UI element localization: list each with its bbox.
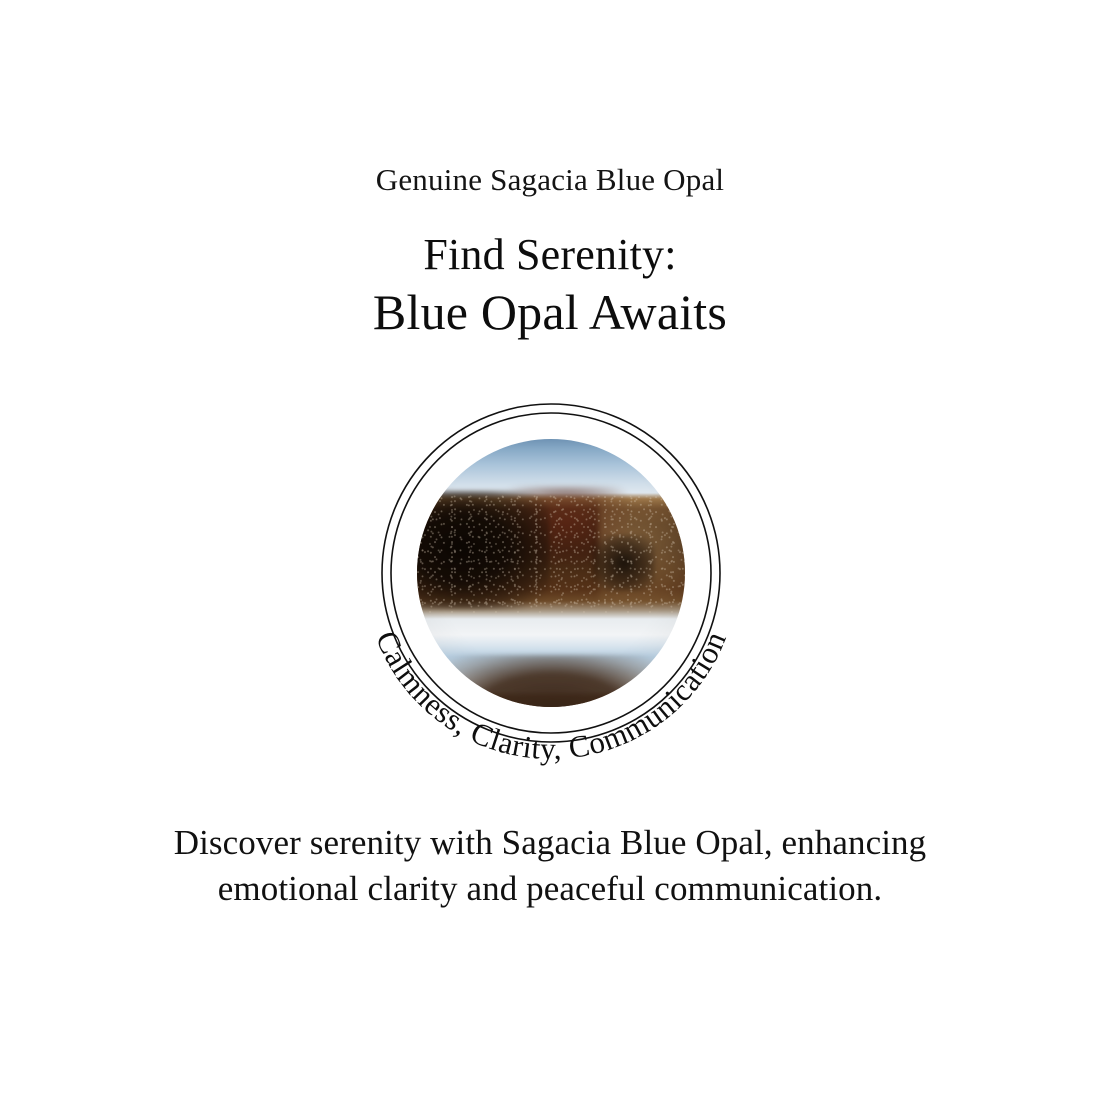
description-line-1: Discover serenity with Sagacia Blue Opal… (0, 820, 1100, 866)
headline-line-1: Find Serenity: (0, 228, 1100, 282)
badge-rings-and-caption: Calmness, Clarity, Communication (291, 313, 811, 833)
description-block: Discover serenity with Sagacia Blue Opal… (0, 820, 1100, 912)
brand-eyebrow: Genuine Sagacia Blue Opal (0, 162, 1100, 198)
badge-caption-text: Calmness, Clarity, Communication (369, 626, 733, 766)
promo-canvas: Genuine Sagacia Blue Opal Find Serenity:… (0, 0, 1100, 1100)
description-line-2: emotional clarity and peaceful communica… (0, 866, 1100, 912)
